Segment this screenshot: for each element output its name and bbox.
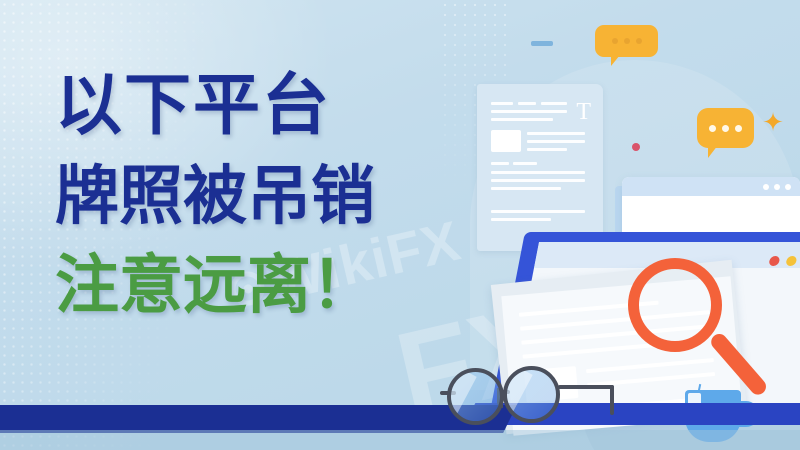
doc-line xyxy=(527,140,585,143)
bubble-dot xyxy=(735,125,742,132)
sparkle-icon: ✦ xyxy=(762,112,784,134)
doc-line xyxy=(518,102,536,105)
doc-line xyxy=(491,218,551,221)
chat-bubble-small xyxy=(595,25,658,57)
doc-line xyxy=(491,171,585,174)
doc-line xyxy=(541,102,567,105)
window-dot-red xyxy=(768,256,780,266)
desk-surface xyxy=(0,405,517,433)
window-dot xyxy=(763,184,769,190)
doc-line xyxy=(491,210,585,213)
document-sheet: T xyxy=(477,84,603,251)
desk-shadow xyxy=(0,430,800,450)
headline-line-2: 牌照被吊销 xyxy=(55,164,495,228)
poster-canvas: FX T xyxy=(0,0,800,450)
headline-block: 以下平台 牌照被吊销 注意远离！ xyxy=(55,72,495,317)
headline-line-3: 注意远离！ xyxy=(55,253,495,317)
doc-line xyxy=(491,110,567,113)
glasses-temple-tip xyxy=(610,385,614,415)
window-dot-yellow xyxy=(785,256,797,266)
headline-line-1: 以下平台 xyxy=(55,72,495,139)
doc-line xyxy=(491,187,561,190)
window-dot xyxy=(774,184,780,190)
bubble-dot xyxy=(612,38,618,44)
bubble-dot xyxy=(624,38,630,44)
red-dot xyxy=(632,143,640,151)
doc-line xyxy=(513,162,537,165)
browser-titlebar xyxy=(622,177,800,196)
doc-line xyxy=(491,118,553,121)
doc-line xyxy=(491,179,585,182)
glasses-right-lens xyxy=(503,366,560,423)
doc-line xyxy=(527,132,585,135)
blue-dash xyxy=(531,41,553,46)
chat-bubble-large xyxy=(697,108,754,148)
bubble-dot xyxy=(722,125,729,132)
glasses-temple-arm xyxy=(558,385,614,389)
bubble-dot xyxy=(636,38,642,44)
text-t-glyph: T xyxy=(576,100,591,124)
laptop-window-dots xyxy=(768,256,800,266)
glasses-left-lens xyxy=(447,368,504,425)
bubble-dot xyxy=(709,125,716,132)
magnifier-ring xyxy=(628,258,722,352)
doc-image-block xyxy=(491,130,521,152)
doc-line xyxy=(527,148,567,151)
window-dot xyxy=(785,184,791,190)
paper-line xyxy=(586,358,714,373)
